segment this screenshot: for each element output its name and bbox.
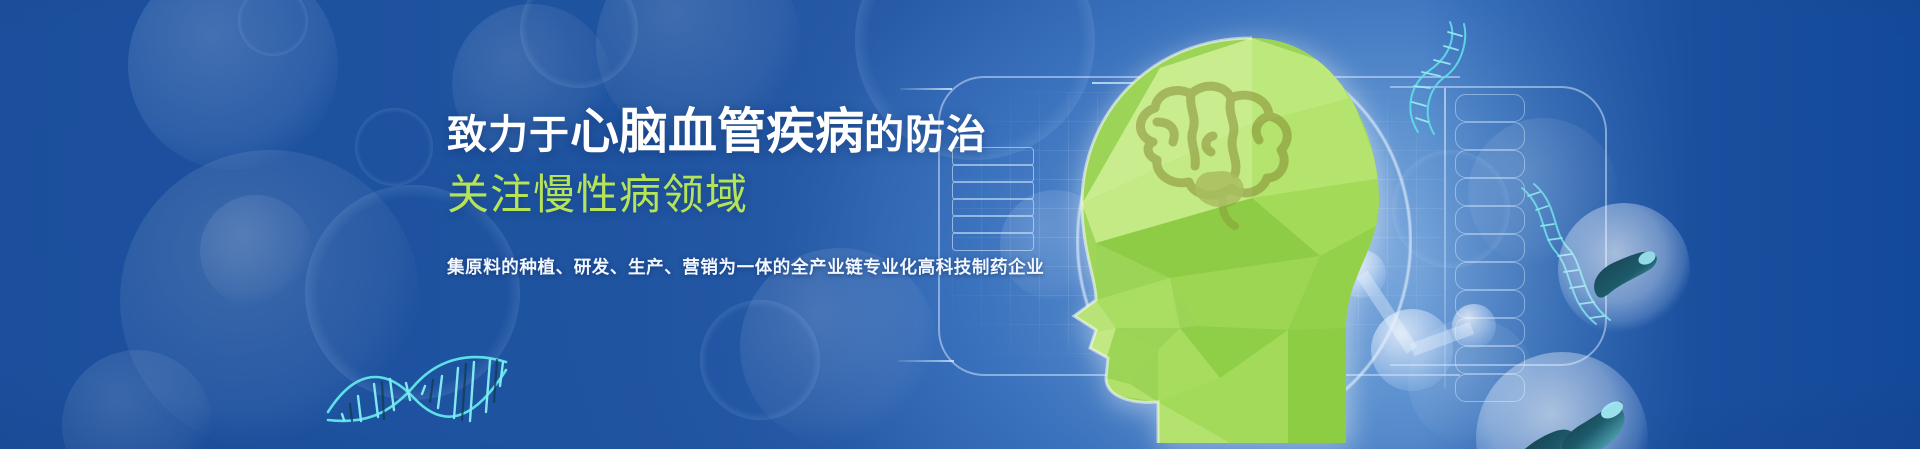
- hero-banner: 致力于心脑血管疾病的防治 关注慢性病领域 集原料的种植、研发、生产、营销为一体的…: [0, 0, 1920, 449]
- vignette-overlay: [0, 0, 1920, 449]
